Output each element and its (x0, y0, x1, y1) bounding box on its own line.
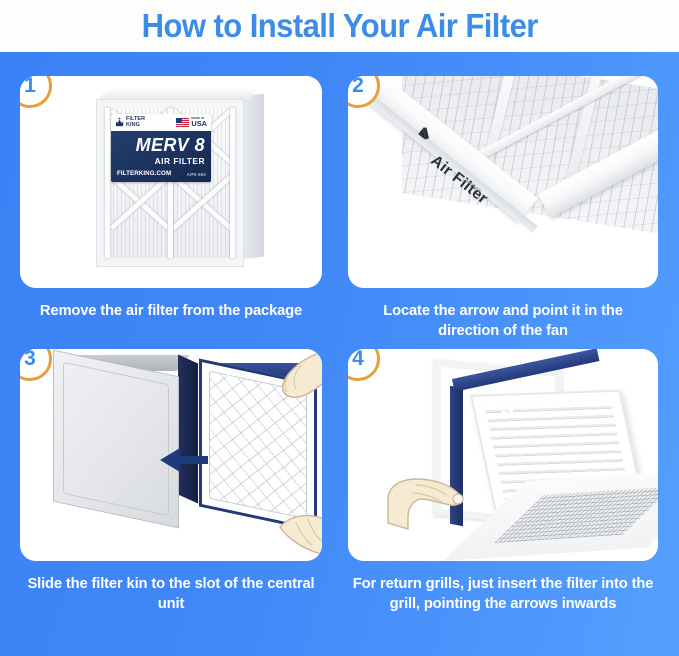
step-1-caption: Remove the air filter from the package (25, 301, 318, 321)
step-1-card: FILTER KING (20, 76, 322, 288)
website-url: FILTERKING.COM (117, 170, 171, 177)
step-3-caption: Slide the filter kin to the slot of the … (25, 574, 318, 615)
central-unit-slot (178, 355, 198, 504)
step-4-card: 4 (348, 349, 658, 561)
central-unit-face (53, 350, 179, 529)
merv-rating: MERV 8 (111, 136, 205, 154)
step-3-image (20, 349, 322, 561)
infographic-page: How to Install Your Air Filter (0, 0, 679, 656)
filter-depth-side (242, 94, 264, 260)
apr-rating: APR 650 (187, 172, 206, 177)
usa-label: USA (191, 120, 207, 127)
header: How to Install Your Air Filter (0, 0, 679, 52)
step-4-caption: For return grills, just insert the filte… (353, 574, 654, 615)
crown-icon (115, 117, 124, 128)
air-filter-corner-photo: Air Filter AIRFLOW (348, 76, 658, 288)
step-2-caption: Locate the arrow and point it in the dir… (353, 301, 654, 342)
page-title: How to Install Your Air Filter (141, 7, 537, 45)
slide-direction-arrow-icon (158, 445, 208, 475)
step-3-card: 3 (20, 349, 322, 561)
steps-grid: FILTER KING (0, 52, 679, 656)
step-1: FILTER KING (20, 76, 322, 321)
step-4: 4 For return grills, just insert the fil… (348, 349, 658, 615)
step-2: Air Filter AIRFLOW 2 Locate the arrow an… (348, 76, 658, 342)
step-3: 3 Slide the filter kin to the slot of th… (20, 349, 322, 615)
filter-front-face: FILTER KING (96, 99, 244, 267)
filter-king-logo: FILTER KING (115, 117, 145, 128)
step-1-image: FILTER KING (20, 76, 322, 288)
made-in-usa-text: MADE IN USA (191, 117, 207, 127)
brand-wordmark: FILTER KING (126, 117, 145, 128)
hand-icon (386, 459, 482, 533)
hand-icon (278, 509, 322, 559)
label-header-strip: FILTER KING (111, 114, 211, 131)
us-flag-icon (176, 118, 189, 127)
step-4-image (348, 349, 658, 561)
hand-icon (263, 349, 322, 411)
product-label: FILTER KING (111, 114, 211, 182)
label-footer-strip: FILTERKING.COM APR 650 (117, 170, 206, 177)
merv-8-air-filter-package-photo: FILTER KING (96, 87, 264, 267)
step-2-card: Air Filter AIRFLOW 2 (348, 76, 658, 288)
made-in-usa-badge: MADE IN USA (176, 117, 207, 127)
support-wire-icon (105, 108, 110, 258)
product-type: AIR FILTER (111, 156, 205, 166)
step-2-image: Air Filter AIRFLOW (348, 76, 658, 288)
support-wire-icon (230, 108, 235, 258)
